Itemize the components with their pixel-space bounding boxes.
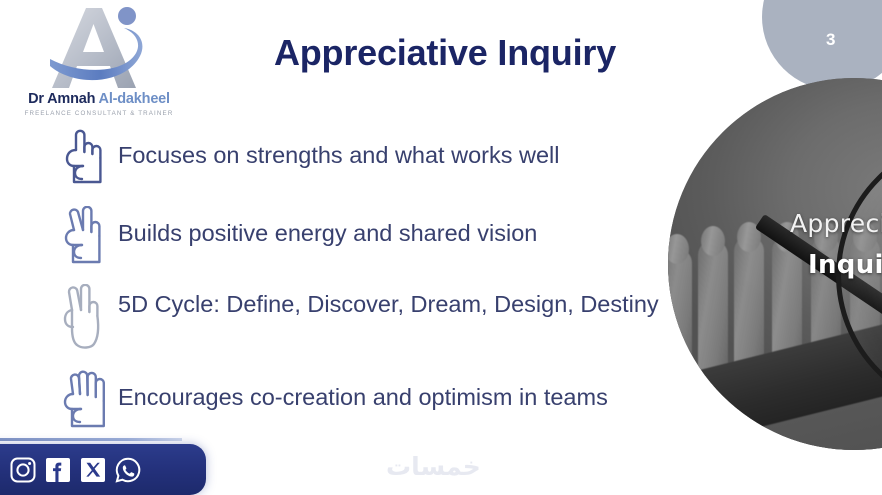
instagram-icon[interactable] [10,457,36,483]
brand-name-second: Al-dakheel [99,91,170,107]
brand-logo: Dr Amnah Al-dakheel FREELANCE CONSULTANT… [14,4,184,117]
ai-monogram-logo-icon [14,4,184,92]
hand-three-fingers-icon [58,284,112,354]
page-number: 3 [826,30,836,50]
hand-two-fingers-icon [58,206,112,268]
footer-divider [0,438,182,441]
list-item: Focuses on strengths and what works well [58,128,678,190]
brand-name-first: Dr Amnah [28,91,98,107]
list-item-text: Encourages co-creation and optimism in t… [112,370,608,413]
brand-tagline: FREELANCE CONSULTANT & TRAINER [14,110,184,117]
list-item: Builds positive energy and shared vision [58,206,678,268]
list-item: 5D Cycle: Define, Discover, Dream, Desig… [58,284,678,354]
hero-photo: Appreciative Inquiry CENTER FOR MANAGEME… [668,78,882,450]
watermark: خمسات [386,452,481,481]
list-item-text: 5D Cycle: Define, Discover, Dream, Desig… [112,284,659,320]
x-twitter-icon[interactable] [80,457,106,483]
list-item-text: Focuses on strengths and what works well [112,128,560,171]
photo-overlay-title: Appreciative [790,209,882,238]
facebook-icon[interactable] [45,457,71,483]
whatsapp-icon[interactable] [115,457,141,483]
hand-one-finger-icon [58,128,112,190]
slide-canvas: 3 Appreciative Inquiry CENTER FOR MANAGE… [0,0,882,495]
hero-photo-circle: Appreciative Inquiry CENTER FOR MANAGEME… [668,78,882,450]
list-item-text: Builds positive energy and shared vision [112,206,537,249]
list-item: Encourages co-creation and optimism in t… [58,370,678,432]
page-number-circle [762,0,882,90]
hand-four-fingers-icon [58,370,112,432]
photo-overlay-subtitle: Inquiry [808,250,882,280]
bullet-list: Focuses on strengths and what works well… [58,128,678,448]
page-title: Appreciative Inquiry [190,32,700,74]
social-bar [0,444,206,495]
brand-name: Dr Amnah Al-dakheel [14,92,184,108]
